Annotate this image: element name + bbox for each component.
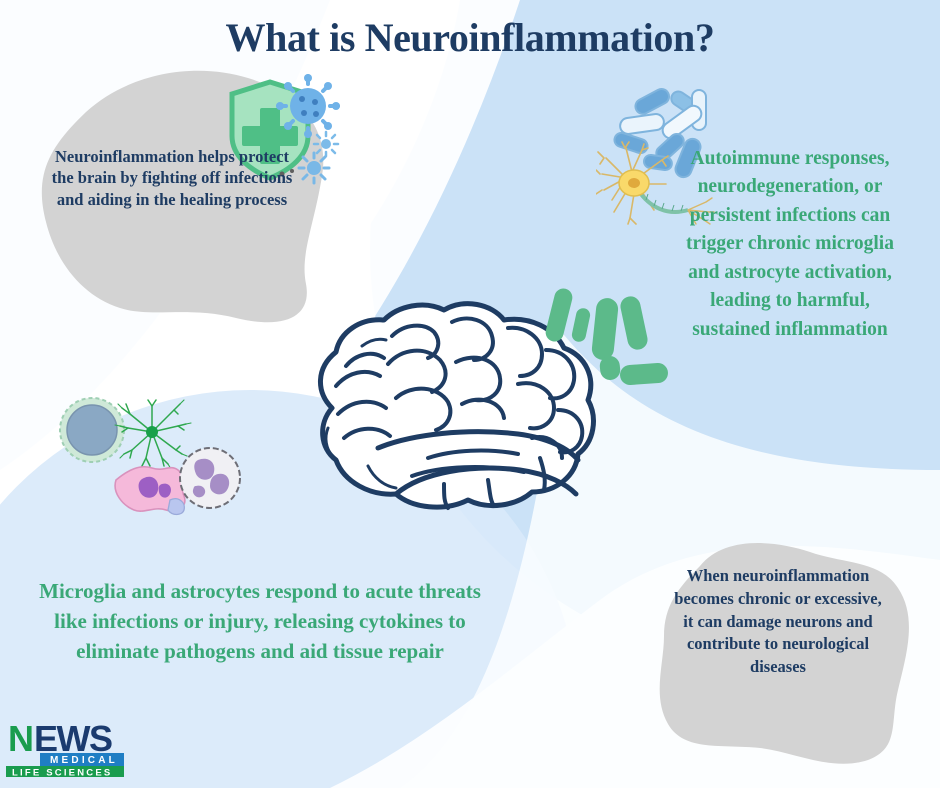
neutrophil-cell-icon — [180, 448, 240, 508]
acute-response-text: Microglia and astrocytes respond to acut… — [24, 577, 496, 666]
neuron-nucleus — [628, 178, 640, 188]
spark-6 — [619, 362, 668, 385]
macrophage-cell-icon — [115, 467, 185, 515]
logo-medical-text: MEDICAL — [50, 755, 118, 766]
infographic-canvas: What is Neuroinflammation? — [0, 0, 940, 788]
chronic-triggers-text: Autoimmune responses, neurodegeneration,… — [676, 145, 904, 344]
news-medical-life-sciences-logo[interactable]: N EWS MEDICAL LIFE SCIENCES — [6, 715, 128, 782]
logo-lifesciences-text: LIFE SCIENCES — [12, 768, 112, 778]
virus-large-icon — [276, 74, 340, 138]
activity-sparks-icon — [538, 278, 668, 395]
logo-letters-ews: EWS — [34, 718, 112, 759]
logo-letter-n: N — [8, 718, 34, 759]
monocyte-cell-icon — [60, 398, 124, 462]
virus-tiny-icon — [299, 153, 329, 183]
virus-small-icon — [314, 132, 338, 156]
immune-cells-icon — [52, 392, 242, 523]
chronic-damage-text: When neuroinflammation becomes chronic o… — [672, 565, 884, 679]
spark-2 — [571, 307, 592, 343]
spark-5 — [619, 295, 650, 352]
spark-3 — [591, 297, 619, 361]
microglia-soma — [146, 426, 158, 438]
microglia-cell-icon — [115, 400, 191, 471]
page-title: What is Neuroinflammation? — [0, 14, 940, 61]
protective-role-text: Neuroinflammation helps protect the brai… — [46, 146, 298, 210]
spark-1 — [544, 287, 575, 344]
